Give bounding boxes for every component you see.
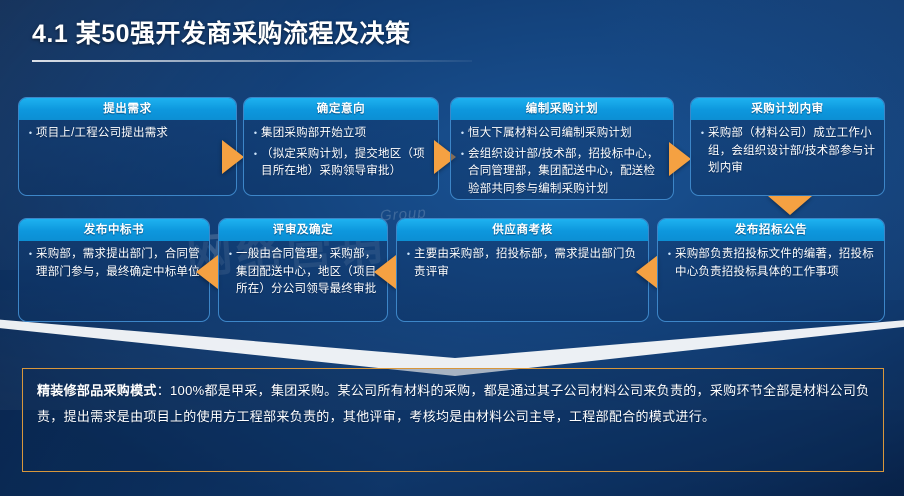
process-box-body: • 恒大下属材料公司编制采购计划 • 会组织设计部/技术部，招投标中心，合同管理… <box>451 120 673 200</box>
list-item: • 会组织设计部/技术部，招投标中心，合同管理部，集团配送中心，配送检验部共同参… <box>457 146 666 199</box>
bullet-dot-icon: • <box>664 246 675 263</box>
list-item: • 采购部（材料公司）成立工作小组，会组织设计部/技术部参与计划内审 <box>697 125 877 178</box>
process-box-body: • 采购部，需求提出部门，合同管理部门参与，最终确定中标单位 <box>19 241 209 288</box>
slide-title-block: 4.1 某50强开发商采购流程及决策 <box>32 14 411 50</box>
process-box-body: • 项目上/工程公司提出需求 <box>19 120 236 150</box>
list-item: • 恒大下属材料公司编制采购计划 <box>457 125 666 143</box>
process-box-evaluate-and-confirm[interactable]: 评审及确定 • 一般由合同管理，采购部，集团配送中心，地区（项目所在）分公司领导… <box>218 218 388 322</box>
process-box-header: 发布中标书 <box>19 219 209 241</box>
list-item-text: 会组织设计部/技术部，招投标中心，合同管理部，集团配送中心，配送检验部共同参与编… <box>468 146 666 199</box>
list-item-text: 一般由合同管理，采购部，集团配送中心，地区（项目所在）分公司领导最终审批 <box>236 246 380 299</box>
process-box-submit-request[interactable]: 提出需求 • 项目上/工程公司提出需求 <box>18 97 237 196</box>
summary-panel: 精装修部品采购模式：100%都是甲采，集团采购。某公司所有材料的采购，都是通过其… <box>22 368 884 472</box>
process-box-body: • 采购部（材料公司）成立工作小组，会组织设计部/技术部参与计划内审 <box>691 120 884 185</box>
bullet-dot-icon: • <box>25 246 36 263</box>
summary-body-text: ：100%都是甲采，集团采购。某公司所有材料的采购，都是通过其子公司材料公司来负… <box>37 383 869 424</box>
list-item-text: 恒大下属材料公司编制采购计划 <box>468 125 632 143</box>
page-title: 4.1 某50强开发商采购流程及决策 <box>32 14 411 50</box>
bullet-dot-icon: • <box>457 125 468 142</box>
process-box-header: 发布招标公告 <box>658 219 884 241</box>
list-item-text: 集团采购部开始立项 <box>261 125 366 143</box>
list-item-text: （拟定采购计划，提交地区（项目所在地）采购领导审批） <box>261 146 431 181</box>
process-box-header: 确定意向 <box>244 98 438 120</box>
list-item: • （拟定采购计划，提交地区（项目所在地）采购领导审批） <box>250 146 431 181</box>
list-item-text: 采购部（材料公司）成立工作小组，会组织设计部/技术部参与计划内审 <box>708 125 877 178</box>
list-item: • 主要由采购部，招投标部，需求提出部门负责评审 <box>403 246 641 281</box>
list-item-text: 采购部负责招投标文件的编著，招投标中心负责招投标具体的工作事项 <box>675 246 877 281</box>
process-box-body: • 采购部负责招投标文件的编著，招投标中心负责招投标具体的工作事项 <box>658 241 884 288</box>
bullet-dot-icon: • <box>25 125 36 142</box>
process-box-prepare-plan[interactable]: 编制采购计划 • 恒大下属材料公司编制采购计划 • 会组织设计部/技术部，招投标… <box>450 97 674 200</box>
list-item: • 项目上/工程公司提出需求 <box>25 125 229 143</box>
process-box-plan-internal-review[interactable]: 采购计划内审 • 采购部（材料公司）成立工作小组，会组织设计部/技术部参与计划内… <box>690 97 885 196</box>
process-box-publish-award[interactable]: 发布中标书 • 采购部，需求提出部门，合同管理部门参与，最终确定中标单位 <box>18 218 210 322</box>
bullet-dot-icon: • <box>457 146 468 163</box>
list-item-text: 项目上/工程公司提出需求 <box>36 125 168 143</box>
bullet-dot-icon: • <box>225 246 236 263</box>
process-box-header: 评审及确定 <box>219 219 387 241</box>
process-box-header: 采购计划内审 <box>691 98 884 120</box>
process-box-body: • 主要由采购部，招投标部，需求提出部门负责评审 <box>397 241 648 288</box>
list-item: • 一般由合同管理，采购部，集团配送中心，地区（项目所在）分公司领导最终审批 <box>225 246 380 299</box>
summary-paragraph: 精装修部品采购模式：100%都是甲采，集团采购。某公司所有材料的采购，都是通过其… <box>37 378 871 430</box>
bullet-dot-icon: • <box>403 246 414 263</box>
slide-canvas: 网络营销 Group 4.1 某50强开发商采购流程及决策 提出需求 • 项目上… <box>0 0 904 496</box>
process-box-confirm-intent[interactable]: 确定意向 • 集团采购部开始立项 • （拟定采购计划，提交地区（项目所在地）采购… <box>243 97 439 196</box>
list-item: • 采购部负责招投标文件的编著，招投标中心负责招投标具体的工作事项 <box>664 246 877 281</box>
process-box-body: • 集团采购部开始立项 • （拟定采购计划，提交地区（项目所在地）采购领导审批） <box>244 120 438 188</box>
summary-lead-label: 精装修部品采购模式 <box>37 383 157 398</box>
process-box-header: 供应商考核 <box>397 219 648 241</box>
title-underline <box>32 60 472 62</box>
list-item-text: 采购部，需求提出部门，合同管理部门参与，最终确定中标单位 <box>36 246 202 281</box>
list-item-text: 主要由采购部，招投标部，需求提出部门负责评审 <box>414 246 641 281</box>
list-item: • 采购部，需求提出部门，合同管理部门参与，最终确定中标单位 <box>25 246 202 281</box>
process-box-publish-tender-notice[interactable]: 发布招标公告 • 采购部负责招投标文件的编著，招投标中心负责招投标具体的工作事项 <box>657 218 885 322</box>
process-box-supplier-assessment[interactable]: 供应商考核 • 主要由采购部，招投标部，需求提出部门负责评审 <box>396 218 649 322</box>
bullet-dot-icon: • <box>250 146 261 163</box>
list-item: • 集团采购部开始立项 <box>250 125 431 143</box>
bullet-dot-icon: • <box>697 125 708 142</box>
process-box-header: 提出需求 <box>19 98 236 120</box>
arrow-review-to-announce-icon <box>768 196 812 215</box>
bullet-dot-icon: • <box>250 125 261 142</box>
process-box-body: • 一般由合同管理，采购部，集团配送中心，地区（项目所在）分公司领导最终审批 <box>219 241 387 306</box>
process-box-header: 编制采购计划 <box>451 98 673 120</box>
